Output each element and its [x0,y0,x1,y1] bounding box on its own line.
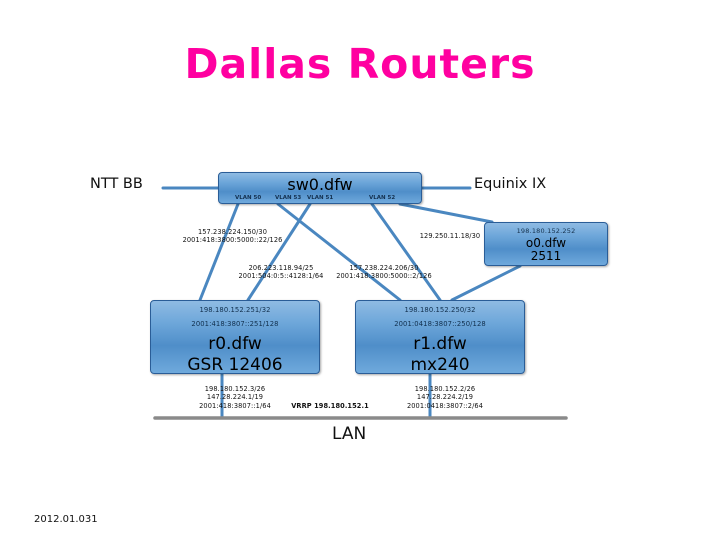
vlan-label-51: VLAN 51 [307,195,333,201]
node-router-r1[interactable]: 198.180.152.250/32 2001:0418:3807::250/1… [355,300,525,374]
link-label-ntt-transit-r1: 157.238.224.206/30 2001:418:3800:5000::2… [330,264,438,281]
ntt-transit-r1-ipv6: 2001:418:3800:5000::2/126 [330,272,438,280]
ntt-transit-ipv4: 157.238.224.150/30 [165,228,300,236]
node-switch-sw0[interactable]: sw0.dfw VLAN 50 VLAN 53 VLAN 51 VLAN 52 [218,172,422,204]
link-label-equinix-ix: 206.223.118.94/25 2001:504:0:5::4128:1/6… [232,264,330,281]
router0-ipv6: 2001:418:3807::251/128 [151,315,319,329]
external-label-equinix: Equinix IX [474,176,546,192]
router0-name: r0.dfw [151,328,319,355]
link-label-console: 129.250.11.18/30 [400,232,500,240]
router1-ipv6: 2001:0418:3807::250/128 [356,315,524,329]
link-switch-vlan51-to-r0 [248,204,310,300]
vlan-label-50: VLAN 50 [235,195,261,201]
external-label-ntt: NTT BB [90,176,143,192]
equinix-ipv4: 206.223.118.94/25 [232,264,330,272]
vlan-label-53: VLAN 53 [275,195,301,201]
link-label-vrrp: VRRP 198.180.152.1 [250,402,410,410]
slide-canvas: Dallas Routers NTT BB Equinix IX LAN sw0… [0,0,720,540]
router1-lan-line2: 147.28.224.2/19 [360,393,530,401]
link-label-ntt-transit: 157.238.224.150/30 2001:418:3800:5000::2… [165,228,300,245]
router1-model: mx240 [356,355,524,375]
router1-name: r1.dfw [356,328,524,355]
router0-ipv4: 198.180.152.251/32 [151,301,319,315]
router0-lan-line2: 147.28.224.1/19 [150,393,320,401]
link-console-to-r1 [452,266,520,300]
console-link-ipv4: 129.250.11.18/30 [400,232,500,240]
router0-model: GSR 12406 [151,355,319,375]
external-label-lan: LAN [332,424,366,444]
console-ip: 198.180.152.252 [485,223,607,235]
ntt-transit-ipv6: 2001:418:3800:5000::22/126 [165,236,300,244]
console-name: o0.dfw [485,235,607,250]
node-router-r0[interactable]: 198.180.152.251/32 2001:418:3807::251/12… [150,300,320,374]
console-model: 2511 [485,250,607,263]
router1-lan-line1: 198.180.152.2/26 [360,385,530,393]
link-switch-to-console [400,204,492,222]
router1-ipv4: 198.180.152.250/32 [356,301,524,315]
ntt-transit-r1-ipv4: 157.238.224.206/30 [330,264,438,272]
equinix-ipv6: 2001:504:0:5::4128:1/64 [232,272,330,280]
router0-lan-line1: 198.180.152.3/26 [150,385,320,393]
switch-name: sw0.dfw [219,173,421,195]
vlan-label-52: VLAN 52 [369,195,395,201]
slide-footer: 2012.01.031 [34,514,98,525]
node-console-o0[interactable]: 198.180.152.252 o0.dfw 2511 [484,222,608,266]
link-switch-vlan50-to-r0 [200,204,238,300]
switch-vlan-row: VLAN 50 VLAN 53 VLAN 51 VLAN 52 [219,195,421,205]
